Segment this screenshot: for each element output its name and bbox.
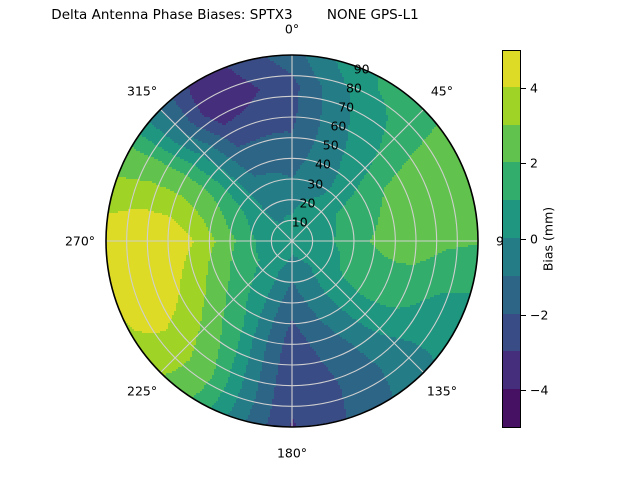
- colorbar-axis-label: Bias (mm): [541, 207, 556, 271]
- radial-tick-label-60: 60: [330, 119, 346, 134]
- colorbar-tick-1: [521, 315, 526, 316]
- radial-tick-label-50: 50: [323, 138, 339, 153]
- radial-tick-label-10: 10: [292, 214, 308, 229]
- colorbar-tick-label-1: −2: [530, 307, 548, 322]
- colorbar-level-3: [503, 275, 520, 313]
- colorbar-level-0: [503, 389, 520, 427]
- radial-tick-label-80: 80: [346, 80, 362, 95]
- colorbar-gradient: [502, 50, 521, 428]
- colorbar-tick-label-0: −4: [530, 383, 548, 398]
- figure-canvas: Delta Antenna Phase Biases: SPTX3 NONE G…: [0, 0, 640, 480]
- colorbar-tick-2: [521, 239, 526, 240]
- radial-tick-label-70: 70: [338, 99, 354, 114]
- radial-tick-label-30: 30: [307, 176, 323, 191]
- colorbar-tick-3: [521, 163, 526, 164]
- colorbar-level-6: [503, 162, 520, 200]
- radial-tick-label-20: 20: [300, 195, 316, 210]
- colorbar-level-4: [503, 238, 520, 276]
- colorbar-level-1: [503, 351, 520, 389]
- colorbar-level-5: [503, 200, 520, 238]
- angular-tick-label-45: 45°: [431, 84, 453, 99]
- colorbar-level-8: [503, 86, 520, 124]
- angular-tick-label-135: 135°: [427, 383, 457, 398]
- angular-tick-label-270: 270°: [65, 234, 95, 249]
- colorbar-level-7: [503, 124, 520, 162]
- angular-tick-label-315: 315°: [127, 84, 157, 99]
- colorbar-tick-label-2: 0: [530, 232, 538, 247]
- colorbar-level-9: [503, 50, 520, 87]
- colorbar-tick-4: [521, 88, 526, 89]
- colorbar-tick-0: [521, 390, 526, 391]
- colorbar-level-2: [503, 313, 520, 351]
- radial-tick-label-90: 90: [354, 61, 370, 76]
- polar-grid: [106, 55, 478, 427]
- colorbar-tick-label-3: 2: [530, 156, 538, 171]
- angular-tick-label-0: 0°: [285, 22, 299, 37]
- colorbar-tick-label-4: 4: [530, 80, 538, 95]
- colorbar: −4−2024: [502, 50, 521, 428]
- angular-tick-label-180: 180°: [277, 446, 307, 461]
- radial-tick-label-40: 40: [315, 157, 331, 172]
- angular-tick-label-225: 225°: [127, 383, 157, 398]
